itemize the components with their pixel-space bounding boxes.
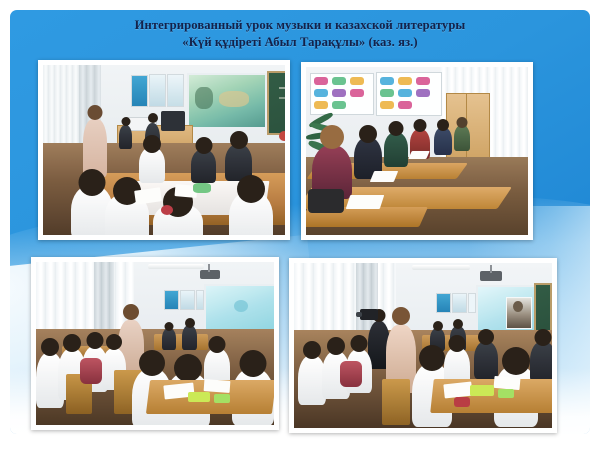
slide-title: Интегрированный урок музыки и казахской …	[0, 17, 600, 51]
photo-bottom-right-scene	[294, 263, 552, 428]
slide-title-line-2: «Күй құдіреті Абыл Тарақұлы» (каз. яз.)	[0, 34, 600, 51]
photo-bottom-left-scene	[36, 262, 274, 425]
slide-title-line-1: Интегрированный урок музыки и казахской …	[0, 17, 600, 34]
photo-top-right-scene	[306, 67, 528, 235]
photo-bottom-left[interactable]	[31, 257, 279, 430]
photo-top-left[interactable]	[38, 60, 290, 240]
photo-bottom-right[interactable]	[289, 258, 557, 433]
photo-top-left-scene	[43, 65, 285, 235]
photo-top-right[interactable]	[301, 62, 533, 240]
presentation-slide: Интегрированный урок музыки и казахской …	[0, 0, 600, 450]
